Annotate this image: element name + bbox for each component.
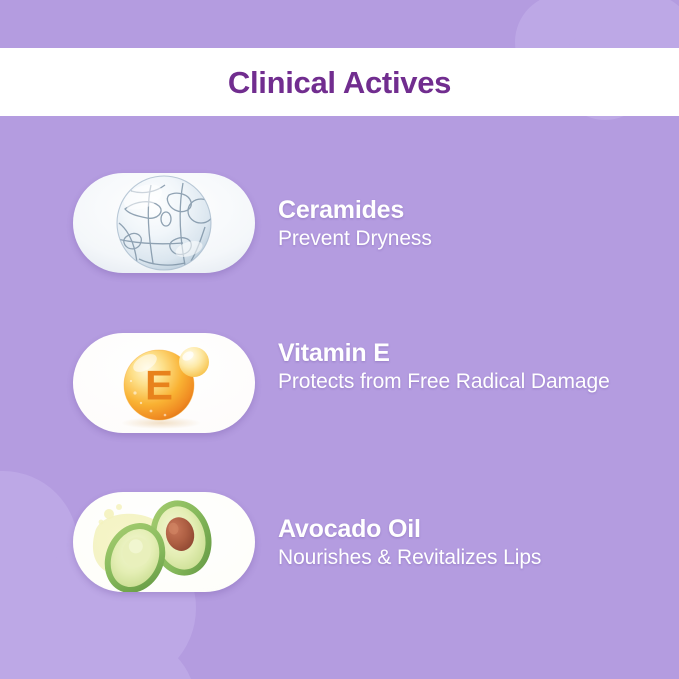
icon-card-avocado-oil (73, 492, 255, 592)
feature-subtitle: Protects from Free Radical Damage (278, 370, 653, 395)
icon-card-vitamin-e: E (73, 333, 255, 433)
avocado-halves-icon (73, 492, 255, 592)
feature-row-ceramides: Ceramides Prevent Dryness (73, 173, 653, 273)
icon-card-ceramides (73, 173, 255, 273)
feature-text-vitamin-e: Vitamin E Protects from Free Radical Dam… (278, 333, 653, 433)
feature-text-avocado-oil: Avocado Oil Nourishes & Revitalizes Lips (278, 492, 653, 592)
page-title: Clinical Actives (228, 67, 451, 98)
feature-text-ceramides: Ceramides Prevent Dryness (278, 173, 653, 273)
feature-subtitle: Prevent Dryness (278, 227, 653, 252)
water-bubble-sphere-icon (73, 173, 255, 273)
vitamin-e-capsule-icon: E (73, 333, 255, 433)
feature-title: Vitamin E (278, 339, 653, 368)
feature-row-avocado-oil: Avocado Oil Nourishes & Revitalizes Lips (73, 492, 653, 592)
feature-title: Avocado Oil (278, 515, 653, 544)
clinical-actives-infographic: Clinical Actives (0, 0, 679, 679)
feature-row-vitamin-e: E Vitamin E Protects from Free Radical D… (73, 333, 653, 433)
feature-subtitle: Nourishes & Revitalizes Lips (278, 546, 653, 571)
feature-title: Ceramides (278, 196, 653, 225)
header-band: Clinical Actives (0, 48, 679, 116)
svg-text:E: E (145, 362, 173, 409)
